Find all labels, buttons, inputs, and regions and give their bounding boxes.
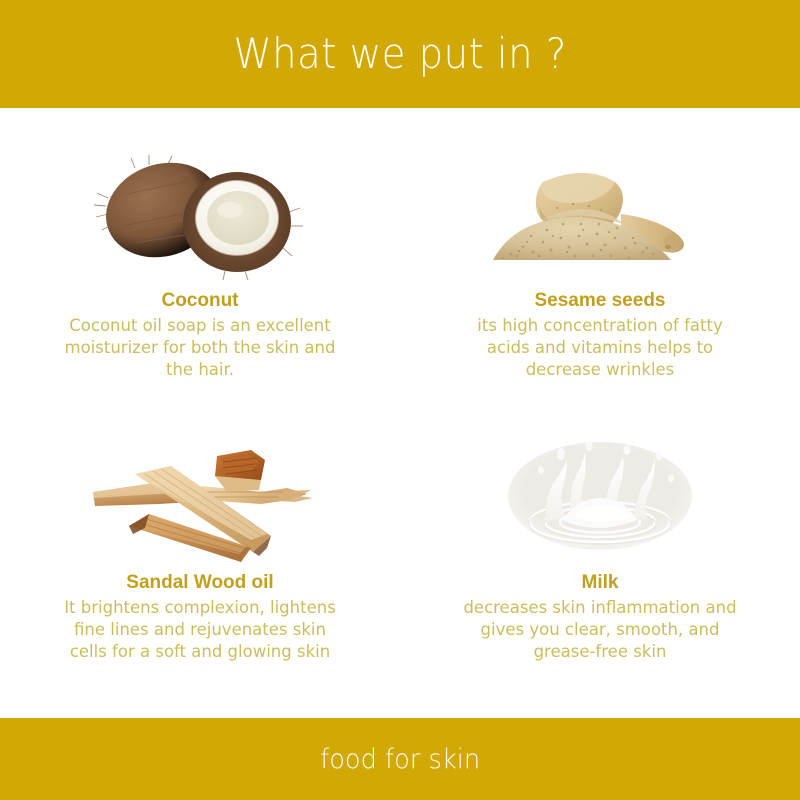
sandalwood-illustration xyxy=(75,430,325,565)
page-title: What we put in ? xyxy=(233,33,566,75)
ingredients-grid: Coconut Coconut oil soap is an excellent… xyxy=(0,108,800,718)
ingredient-title: Coconut xyxy=(161,289,238,313)
header-banner: What we put in ? xyxy=(0,0,800,108)
sesame-seeds-illustration xyxy=(475,148,725,283)
infographic-page: What we put in ? xyxy=(0,0,800,800)
ingredient-description: its high concentration of fatty acids an… xyxy=(455,315,745,381)
ingredient-card-coconut: Coconut Coconut oil soap is an excellent… xyxy=(0,114,400,416)
footer-banner: food for skin xyxy=(0,718,800,800)
ingredient-card-sesame-seeds: Sesame seeds its high concentration of f… xyxy=(400,114,800,416)
ingredient-title: Milk xyxy=(582,571,619,595)
footer-tagline: food for skin xyxy=(320,746,480,773)
ingredient-description: decreases skin inflammation and gives yo… xyxy=(455,597,745,663)
ingredient-card-sandal-wood-oil: Sandal Wood oil It brightens complexion,… xyxy=(0,416,400,718)
ingredient-card-milk: Milk decreases skin inflammation and giv… xyxy=(400,416,800,718)
milk-splash-illustration xyxy=(475,430,725,565)
ingredient-title: Sandal Wood oil xyxy=(126,571,273,595)
ingredient-title: Sesame seeds xyxy=(535,289,666,313)
coconut-illustration xyxy=(75,148,325,283)
ingredient-description: Coconut oil soap is an excellent moistur… xyxy=(55,315,345,381)
ingredient-description: It brightens complexion, lightens fine l… xyxy=(55,597,345,663)
